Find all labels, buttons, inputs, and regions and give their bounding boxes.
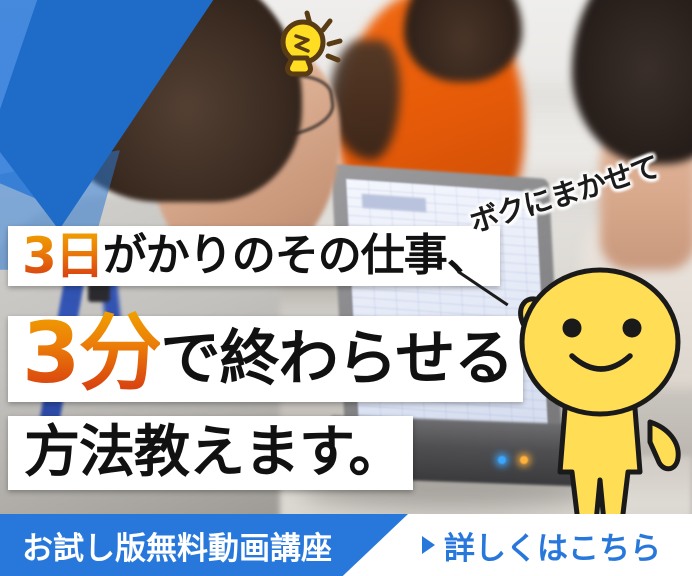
headline-text-2: で終わらせる [160, 329, 513, 389]
headline-band-3: 方法教えます。 [8, 416, 413, 490]
cta-bar[interactable]: お試し版無料動画講座 詳しくはこちら [0, 514, 692, 576]
promo-banner: 3日 がかりのその仕事、 3分 で終わらせる 方法教えます。 ボクにまかせて お… [0, 0, 692, 576]
cta-details-link[interactable]: 詳しくはこちら [408, 514, 692, 576]
cta-primary-label: お試し版無料動画講座 [0, 523, 332, 568]
cta-primary-button[interactable]: お試し版無料動画講座 [0, 514, 408, 576]
headline-text-1: がかりのその仕事、 [103, 234, 490, 278]
yellow-smiley-mascot [500, 236, 692, 536]
lightbulb-icon [258, 6, 354, 80]
cta-link-label: 詳しくはこちら [444, 523, 661, 568]
headline-band-2: 3分 で終わらせる [8, 316, 523, 402]
play-triangle-icon [422, 536, 435, 554]
headline-accent-3days: 3日 [22, 231, 103, 281]
headline-text-3: 方法教えます。 [24, 425, 403, 481]
headline-band-1: 3日 がかりのその仕事、 [8, 226, 500, 286]
headline-accent-3minutes: 3分 [22, 311, 160, 395]
